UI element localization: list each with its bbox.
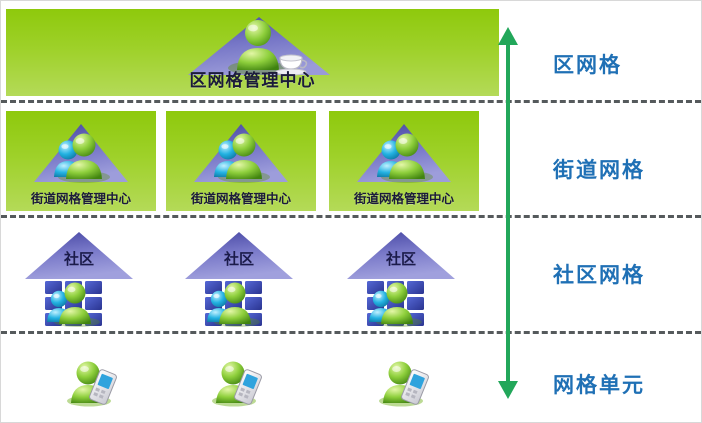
double-headed-vertical-arrow-icon bbox=[493, 27, 523, 399]
community-node[interactable]: 社区 bbox=[23, 229, 135, 329]
svg-text:社区: 社区 bbox=[63, 250, 94, 268]
street-center-label: 街道网格管理中心 bbox=[329, 188, 479, 207]
triangle-people-icon bbox=[32, 121, 130, 185]
level-label-community: 社区网格 bbox=[553, 259, 645, 289]
level-label-street: 街道网格 bbox=[553, 154, 645, 184]
street-center-label: 街道网格管理中心 bbox=[166, 188, 316, 207]
level-divider bbox=[1, 100, 701, 103]
community-node[interactable]: 社区 bbox=[345, 229, 457, 329]
triangle-people-icon bbox=[192, 121, 290, 185]
level-divider bbox=[1, 215, 701, 218]
district-level-box[interactable]: 区网格管理中心 bbox=[6, 9, 499, 96]
street-level-box[interactable]: 街道网格管理中心 bbox=[329, 111, 479, 211]
street-center-label: 街道网格管理中心 bbox=[6, 188, 156, 207]
level-label-district: 区网格 bbox=[553, 49, 622, 79]
triangle-people-icon bbox=[355, 121, 453, 185]
svg-text:社区: 社区 bbox=[385, 250, 416, 268]
grid-unit-node[interactable] bbox=[373, 359, 435, 407]
district-center-label: 区网格管理中心 bbox=[6, 66, 499, 91]
diagram-canvas: 区网格管理中心 bbox=[0, 0, 702, 423]
level-label-unit: 网格单元 bbox=[553, 369, 645, 399]
svg-text:社区: 社区 bbox=[223, 250, 254, 268]
grid-unit-node[interactable] bbox=[61, 359, 123, 407]
street-level-box[interactable]: 街道网格管理中心 bbox=[6, 111, 156, 211]
community-node[interactable]: 社区 bbox=[183, 229, 295, 329]
street-level-box[interactable]: 街道网格管理中心 bbox=[166, 111, 316, 211]
level-divider bbox=[1, 331, 701, 334]
grid-unit-node[interactable] bbox=[206, 359, 268, 407]
